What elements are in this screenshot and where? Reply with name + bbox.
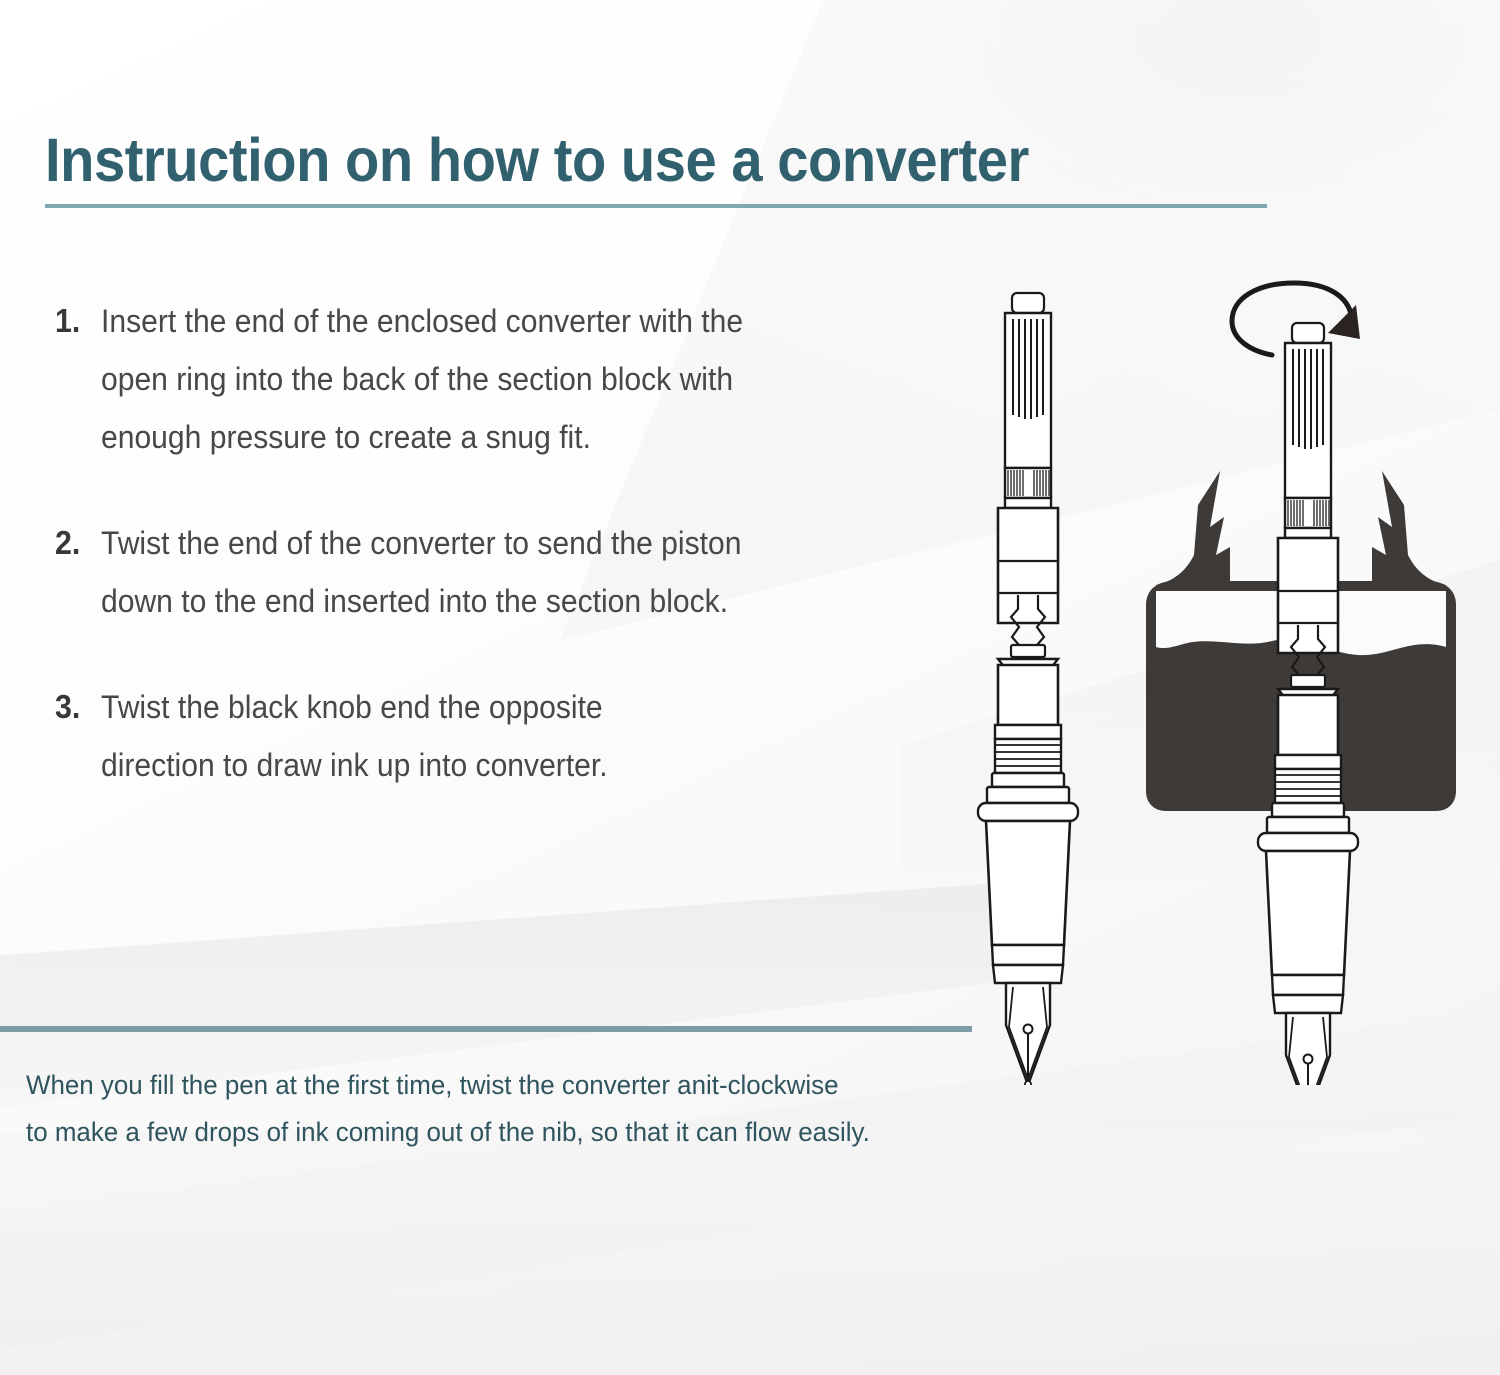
step-number: 2.: [55, 514, 97, 572]
background-wedge-bottom: [0, 1130, 1500, 1375]
footer-divider-rule: [0, 1026, 972, 1032]
step-number: 3.: [55, 678, 97, 736]
corner-sheen-decoration: [860, 0, 1500, 250]
step-line: Twist the black knob end the opposite: [101, 678, 932, 736]
page-header: Instruction on how to use a converter: [45, 128, 1275, 208]
step-text: Twist the end of the converter to send t…: [101, 514, 932, 630]
step-line: down to the end inserted into the sectio…: [101, 572, 932, 630]
instruction-steps-list: 1. Insert the end of the enclosed conver…: [55, 292, 985, 842]
step-line: Twist the end of the converter to send t…: [101, 514, 932, 572]
pen-illustration: [960, 255, 1500, 1085]
footer-line: When you fill the pen at the first time,…: [26, 1062, 1024, 1109]
instruction-step: 3. Twist the black knob end the opposite…: [55, 678, 985, 794]
instruction-step: 2. Twist the end of the converter to sen…: [55, 514, 985, 630]
step-text: Twist the black knob end the opposite di…: [101, 678, 932, 794]
step-line: open ring into the back of the section b…: [101, 350, 932, 408]
step-line: Insert the end of the enclosed converter…: [101, 292, 932, 350]
title-underline-rule: [45, 204, 1267, 208]
step-number: 1.: [55, 292, 97, 350]
footer-note: When you fill the pen at the first time,…: [26, 1062, 1024, 1156]
instruction-page: Instruction on how to use a converter 1.…: [0, 0, 1500, 1375]
left-pen-diagram: [978, 293, 1078, 1085]
page-title: Instruction on how to use a converter: [45, 128, 1177, 192]
step-text: Insert the end of the enclosed converter…: [101, 292, 932, 466]
footer-line: to make a few drops of ink coming out of…: [26, 1109, 1024, 1156]
step-line: direction to draw ink up into converter.: [101, 736, 932, 794]
instruction-step: 1. Insert the end of the enclosed conver…: [55, 292, 985, 466]
step-line: enough pressure to create a snug fit.: [101, 408, 932, 466]
